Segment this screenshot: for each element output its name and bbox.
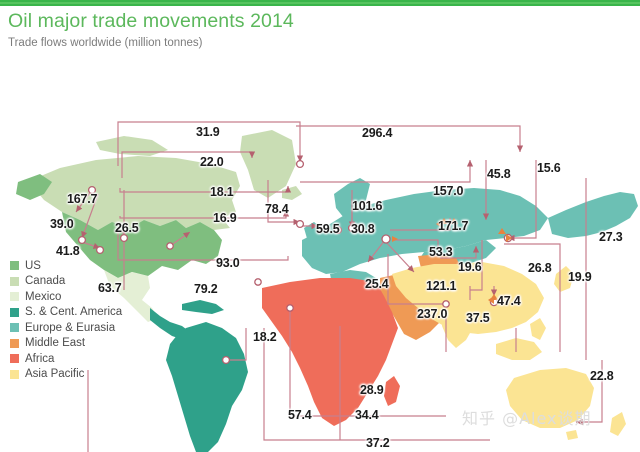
page-title: Oil major trade movements 2014	[8, 9, 628, 33]
flow-value-16-9: 16.9	[213, 211, 237, 225]
watermark: 知乎 @Alex谈期	[462, 405, 592, 429]
flow-value-15-6: 15.6	[537, 161, 561, 175]
node-caribbean	[167, 243, 173, 249]
flow-value-19-9: 19.9	[568, 270, 592, 284]
region-new-zealand	[610, 412, 626, 436]
region-tasmania	[566, 430, 578, 440]
node-us-south	[97, 247, 104, 254]
node-europe-hub	[297, 221, 304, 228]
flow-value-45-8: 45.8	[487, 167, 511, 181]
flow-157-0	[300, 160, 470, 182]
node-us-west	[79, 237, 86, 244]
flow-value-26-8: 26.8	[528, 261, 552, 275]
legend-swatch-icon-middle-east	[10, 339, 19, 348]
flow-value-25-4: 25.4	[365, 277, 389, 291]
node-africa-n	[255, 279, 261, 285]
legend-swatch-icon-asia-pacific	[10, 370, 19, 379]
flow-value-26-5: 26.5	[115, 221, 139, 235]
flow-value-63-7: 63.7	[98, 281, 122, 295]
page-subtitle: Trade flows worldwide (million tonnes)	[8, 35, 628, 51]
flow-value-27-3: 27.3	[599, 230, 623, 244]
region-philippines	[530, 318, 546, 340]
flow-value-57-4: 57.4	[288, 408, 312, 422]
legend-label-europe-eurasia: Europe & Eurasia	[25, 322, 115, 334]
world-map-svg	[0, 60, 640, 452]
legend-label-middle-east: Middle East	[25, 337, 85, 349]
legend-item-mexico: Mexico	[10, 289, 160, 305]
legend-item-europe-eurasia: Europe & Eurasia	[10, 320, 160, 336]
flow-value-296-4: 296.4	[362, 126, 392, 140]
flow-value-28-9: 28.9	[360, 383, 384, 397]
flow-value-18-1: 18.1	[210, 185, 234, 199]
legend-item-s-cent-america: S. & Cent. America	[10, 305, 160, 321]
node-us-east	[121, 235, 128, 242]
flow-value-79-2: 79.2	[194, 282, 218, 296]
region-iceland	[282, 186, 302, 200]
flow-value-22-8: 22.8	[590, 369, 614, 383]
legend-item-us: US	[10, 258, 160, 274]
flow-value-19-6: 19.6	[458, 260, 482, 274]
flow-value-30-8: 30.8	[351, 222, 375, 236]
flow-value-78-4: 78.4	[265, 202, 289, 216]
region-caribbean	[182, 300, 224, 314]
top-accent-rule	[0, 0, 640, 6]
legend-label-africa: Africa	[25, 353, 54, 365]
legend-swatch-icon-us	[10, 261, 19, 270]
flow-value-18-2: 18.2	[253, 330, 277, 344]
node-atlantic	[297, 161, 304, 168]
flow-value-237-0: 237.0	[417, 307, 447, 321]
flow-value-53-3: 53.3	[429, 245, 453, 259]
flow-value-121-1: 121.1	[426, 279, 456, 293]
region-canada-arctic	[96, 136, 168, 156]
flow-value-167-7: 167.7	[67, 192, 97, 206]
legend-label-asia-pacific: Asia Pacific	[25, 368, 84, 380]
region-madagascar	[384, 376, 400, 406]
legend-swatch-icon-s-cent-america	[10, 308, 19, 317]
flow-value-37-5: 37.5	[466, 311, 490, 325]
legend-item-middle-east: Middle East	[10, 336, 160, 352]
flow-value-47-4: 47.4	[497, 294, 521, 308]
legend-item-asia-pacific: Asia Pacific	[10, 367, 160, 383]
node-me-hub	[382, 235, 390, 243]
legend-swatch-icon-europe-eurasia	[10, 323, 19, 332]
flow-value-101-6: 101.6	[352, 199, 382, 213]
header: Oil major trade movements 2014 Trade flo…	[8, 9, 628, 51]
flow-value-59-5: 59.5	[316, 222, 340, 236]
legend-swatch-icon-mexico	[10, 292, 19, 301]
region-africa	[262, 278, 398, 426]
region-russia-east	[548, 192, 638, 238]
world-map-panel	[0, 60, 640, 452]
legend-label-s-cent-america: S. & Cent. America	[25, 306, 122, 318]
legend-swatch-icon-canada	[10, 277, 19, 286]
legend-swatch-icon-africa	[10, 354, 19, 363]
node-samerica	[223, 357, 230, 364]
legend-label-mexico: Mexico	[25, 291, 61, 303]
flow-value-157-0: 157.0	[433, 184, 463, 198]
flow-value-41-8: 41.8	[56, 244, 80, 258]
flow-value-31-9: 31.9	[196, 125, 220, 139]
region-south-america	[166, 322, 248, 452]
legend-item-africa: Africa	[10, 351, 160, 367]
infographic-root: Oil major trade movements 2014 Trade flo…	[0, 0, 640, 452]
top-accent-rule-inner	[0, 2, 640, 4]
flow-value-22-0: 22.0	[200, 155, 224, 169]
node-africa-w	[287, 305, 293, 311]
flow-value-171-7: 171.7	[438, 219, 468, 233]
region-sea-islands	[496, 338, 542, 360]
flow-value-93-0: 93.0	[216, 256, 240, 270]
legend-label-canada: Canada	[25, 275, 65, 287]
legend-item-canada: Canada	[10, 274, 160, 290]
flow-value-39-0: 39.0	[50, 217, 74, 231]
flow-296-4	[296, 126, 520, 152]
legend-label-us: US	[25, 260, 41, 272]
flow-value-37-2: 37.2	[366, 436, 390, 450]
legend: US Canada Mexico S. & Cent. America Euro…	[10, 258, 160, 382]
flow-value-34-4: 34.4	[355, 408, 379, 422]
